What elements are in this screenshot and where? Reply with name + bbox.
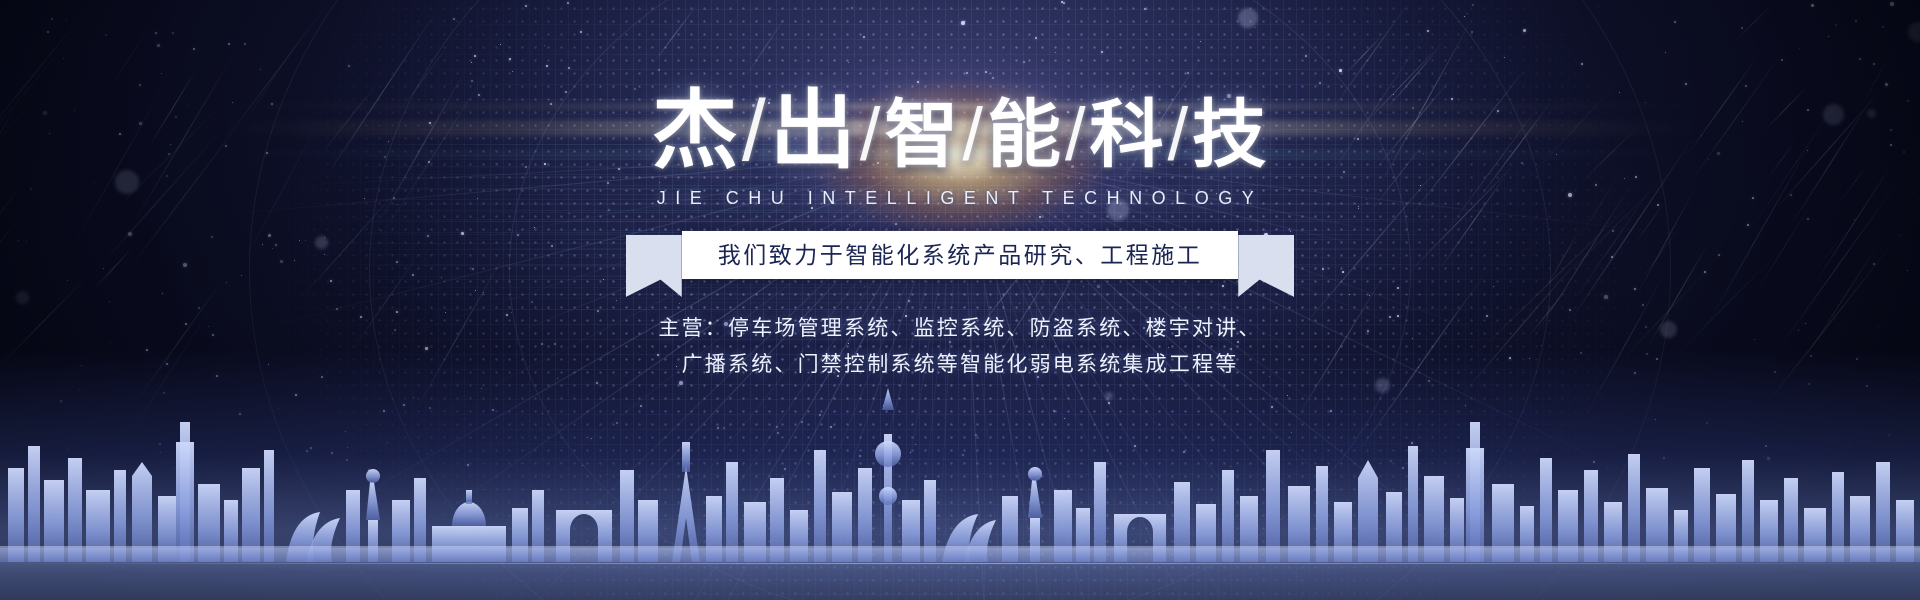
title-char-neng: 能 xyxy=(987,93,1063,176)
title-slash-5: / xyxy=(1166,93,1193,176)
title-char-jie: 杰 xyxy=(652,83,740,179)
city-skyline xyxy=(0,350,1920,600)
subtitle-english: JIE CHU INTELLIGENT TECHNOLOGY xyxy=(0,188,1920,209)
ribbon-tail-right xyxy=(1238,235,1294,297)
ribbon-banner: 我们致力于智能化系统产品研究、工程施工 xyxy=(0,231,1920,285)
hero-banner: 杰/出/智/能/科/技 JIE CHU INTELLIGENT TECHNOLO… xyxy=(0,0,1920,600)
title-slash-4: / xyxy=(1063,93,1090,176)
services-line-2: 广播系统、门禁控制系统等智能化弱电系统集成工程等 xyxy=(460,347,1460,383)
ribbon-body: 我们致力于智能化系统产品研究、工程施工 xyxy=(682,231,1239,279)
title-slash-2: / xyxy=(858,93,885,176)
title-char-zhi: 智 xyxy=(884,93,960,176)
title-slash-3: / xyxy=(960,93,987,176)
water-reflection xyxy=(0,548,1920,600)
services-description: 主营：停车场管理系统、监控系统、防盗系统、楼宇对讲、 广播系统、门禁控制系统等智… xyxy=(460,311,1460,383)
ribbon-text: 我们致力于智能化系统产品研究、工程施工 xyxy=(718,242,1203,268)
title-char-ke: 科 xyxy=(1090,93,1166,176)
title-char-chu: 出 xyxy=(770,83,858,179)
title-char-ji: 技 xyxy=(1192,93,1268,176)
ribbon-tail-left xyxy=(626,235,682,297)
page-title: 杰/出/智/能/科/技 xyxy=(0,0,1920,174)
services-line-1: 主营：停车场管理系统、监控系统、防盗系统、楼宇对讲、 xyxy=(460,311,1460,347)
title-slash-1: / xyxy=(740,83,770,179)
banner-content: 杰/出/智/能/科/技 JIE CHU INTELLIGENT TECHNOLO… xyxy=(0,0,1920,383)
